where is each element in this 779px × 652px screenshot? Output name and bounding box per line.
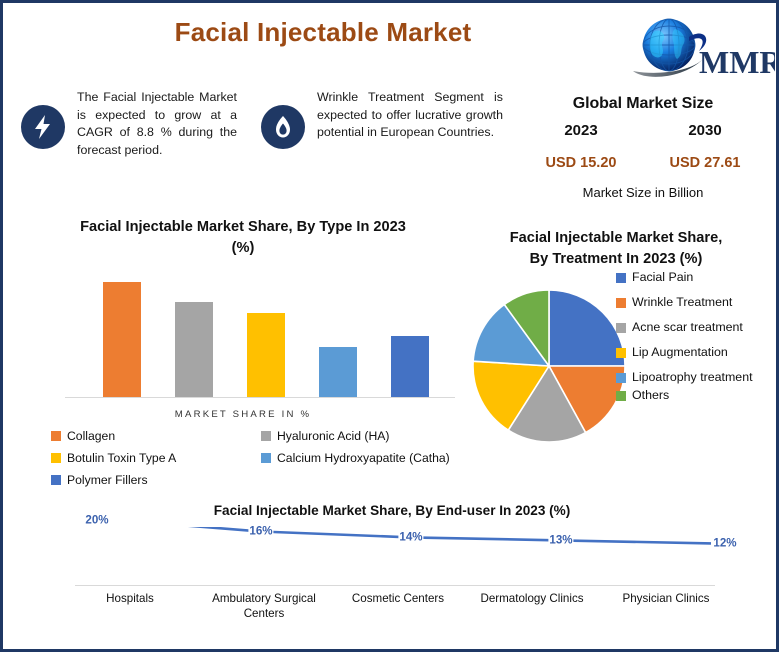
legend-swatch-icon [616,273,626,283]
bar-legend-label: Calcium Hydroxyapatite (Catha) [277,451,450,465]
line-chart-title: Facial Injectable Market Share, By End-u… [11,503,773,518]
bar-legend-item[interactable]: Botulin Toxin Type A [51,451,261,465]
bar-2 [175,302,213,397]
page-title: Facial Injectable Market [3,17,643,48]
global-market-size-panel: Global Market Size 2023 2030 USD 15.20 U… [515,95,771,200]
bar-4 [319,347,357,397]
callout-wrinkle-text: Wrinkle Treatment Segment is expected to… [317,89,503,142]
line-point-label-1: 20% [84,513,109,526]
bar-chart-by-type: Facial Injectable Market Share, By Type … [17,217,469,492]
bar-legend-label: Hyaluronic Acid (HA) [277,429,389,443]
callout-cagr-text: The Facial Injectable Market is expected… [77,89,237,159]
bar-chart-axis-label: MARKET SHARE IN % [17,409,469,420]
line-point-label-5: 12% [712,537,737,550]
legend-swatch-icon [51,431,61,441]
line-plot-area: 20%16%14%13%12% [11,527,773,585]
pie-legend-item[interactable]: Lipoatrophy treatment [616,370,766,385]
bar-legend-label: Collagen [67,429,115,443]
market-size-heading: Global Market Size [515,95,771,113]
bar-legend-label: Polymer Fillers [67,473,148,487]
mmr-logo: MMR [627,15,775,81]
bar-legend-item[interactable]: Collagen [51,429,261,443]
legend-swatch-icon [616,391,626,401]
pie-legend-label: Lipoatrophy treatment [632,370,753,385]
callout-cagr: The Facial Injectable Market is expected… [21,89,269,159]
line-chart-by-enduser: Facial Injectable Market Share, By End-u… [11,503,773,633]
legend-swatch-icon [616,348,626,358]
bar-chart-title-line1: Facial Injectable Market Share, By Type … [17,217,469,238]
legend-swatch-icon [616,373,626,383]
market-size-values: USD 15.20 USD 27.61 [515,155,771,171]
bar-chart-legend: CollagenHyaluronic Acid (HA)Botulin Toxi… [51,429,471,495]
line-point-label-4: 13% [548,534,573,547]
line-chart-axis [75,585,715,586]
legend-swatch-icon [51,453,61,463]
pie-legend-item[interactable]: Wrinkle Treatment [616,295,766,310]
infographic-canvas: Facial Injectable Market [0,0,779,652]
market-size-caption: Market Size in Billion [515,185,771,200]
line-x-label: Ambulatory Surgical Centers [197,591,331,621]
market-size-value-from: USD 15.20 [531,155,631,171]
bar-legend-item[interactable]: Polymer Fillers [51,473,261,487]
market-size-years: 2023 2030 [515,122,771,139]
line-point-label-3: 14% [398,531,423,544]
pie-legend-item[interactable]: Others [616,388,766,403]
bar-chart-title-line2: (%) [17,238,469,259]
pie-chart-by-treatment: Facial Injectable Market Share, By Treat… [469,228,769,473]
legend-swatch-icon [616,298,626,308]
pie-legend-label: Facial Pain [632,270,693,285]
pie-legend-item[interactable]: Acne scar treatment [616,320,766,335]
legend-swatch-icon [51,475,61,485]
bar-3 [247,313,285,397]
pie-legend-item[interactable]: Lip Augmentation [616,345,766,360]
legend-swatch-icon [261,431,271,441]
pie-legend-label: Lip Augmentation [632,345,728,360]
line-x-label: Hospitals [63,591,197,621]
logo-text: MMR [699,44,775,80]
line-x-label: Cosmetic Centers [331,591,465,621]
market-size-value-to: USD 27.61 [655,155,755,171]
pie-chart-title: Facial Injectable Market Share, By Treat… [471,228,761,270]
bar-legend-item[interactable]: Calcium Hydroxyapatite (Catha) [261,451,471,465]
pie-chart-title-line1: Facial Injectable Market Share, [471,228,761,249]
bar-legend-item[interactable]: Hyaluronic Acid (HA) [261,429,471,443]
legend-swatch-icon [261,453,271,463]
line-x-label: Dermatology Clinics [465,591,599,621]
legend-swatch-icon [616,323,626,333]
pie-legend-label: Wrinkle Treatment [632,295,732,310]
bar-chart-title: Facial Injectable Market Share, By Type … [17,217,469,259]
market-size-year-to: 2030 [655,122,755,139]
bar-chart-baseline [65,397,455,398]
pie-slice-1 [549,290,625,366]
bolt-icon [21,105,65,149]
line-chart-x-labels: HospitalsAmbulatory Surgical CentersCosm… [63,591,733,621]
pie-plot-area [469,286,629,446]
pie-legend-item[interactable]: Facial Pain [616,270,766,285]
market-size-year-from: 2023 [531,122,631,139]
line-x-label: Physician Clinics [599,591,733,621]
bar-legend-grid: CollagenHyaluronic Acid (HA)Botulin Toxi… [51,429,471,495]
pie-legend-label: Others [632,388,669,403]
pie-legend-label: Acne scar treatment [632,320,743,335]
pie-chart-legend: Facial PainWrinkle TreatmentAcne scar tr… [616,270,766,413]
bar-legend-label: Botulin Toxin Type A [67,451,176,465]
flame-icon [261,105,305,149]
pie-chart-title-line2: By Treatment In 2023 (%) [471,249,761,270]
bar-5 [391,336,429,397]
line-point-label-2: 16% [248,525,273,538]
bar-plot-area [17,269,469,399]
bar-1 [103,282,141,397]
callout-wrinkle: Wrinkle Treatment Segment is expected to… [261,89,519,149]
